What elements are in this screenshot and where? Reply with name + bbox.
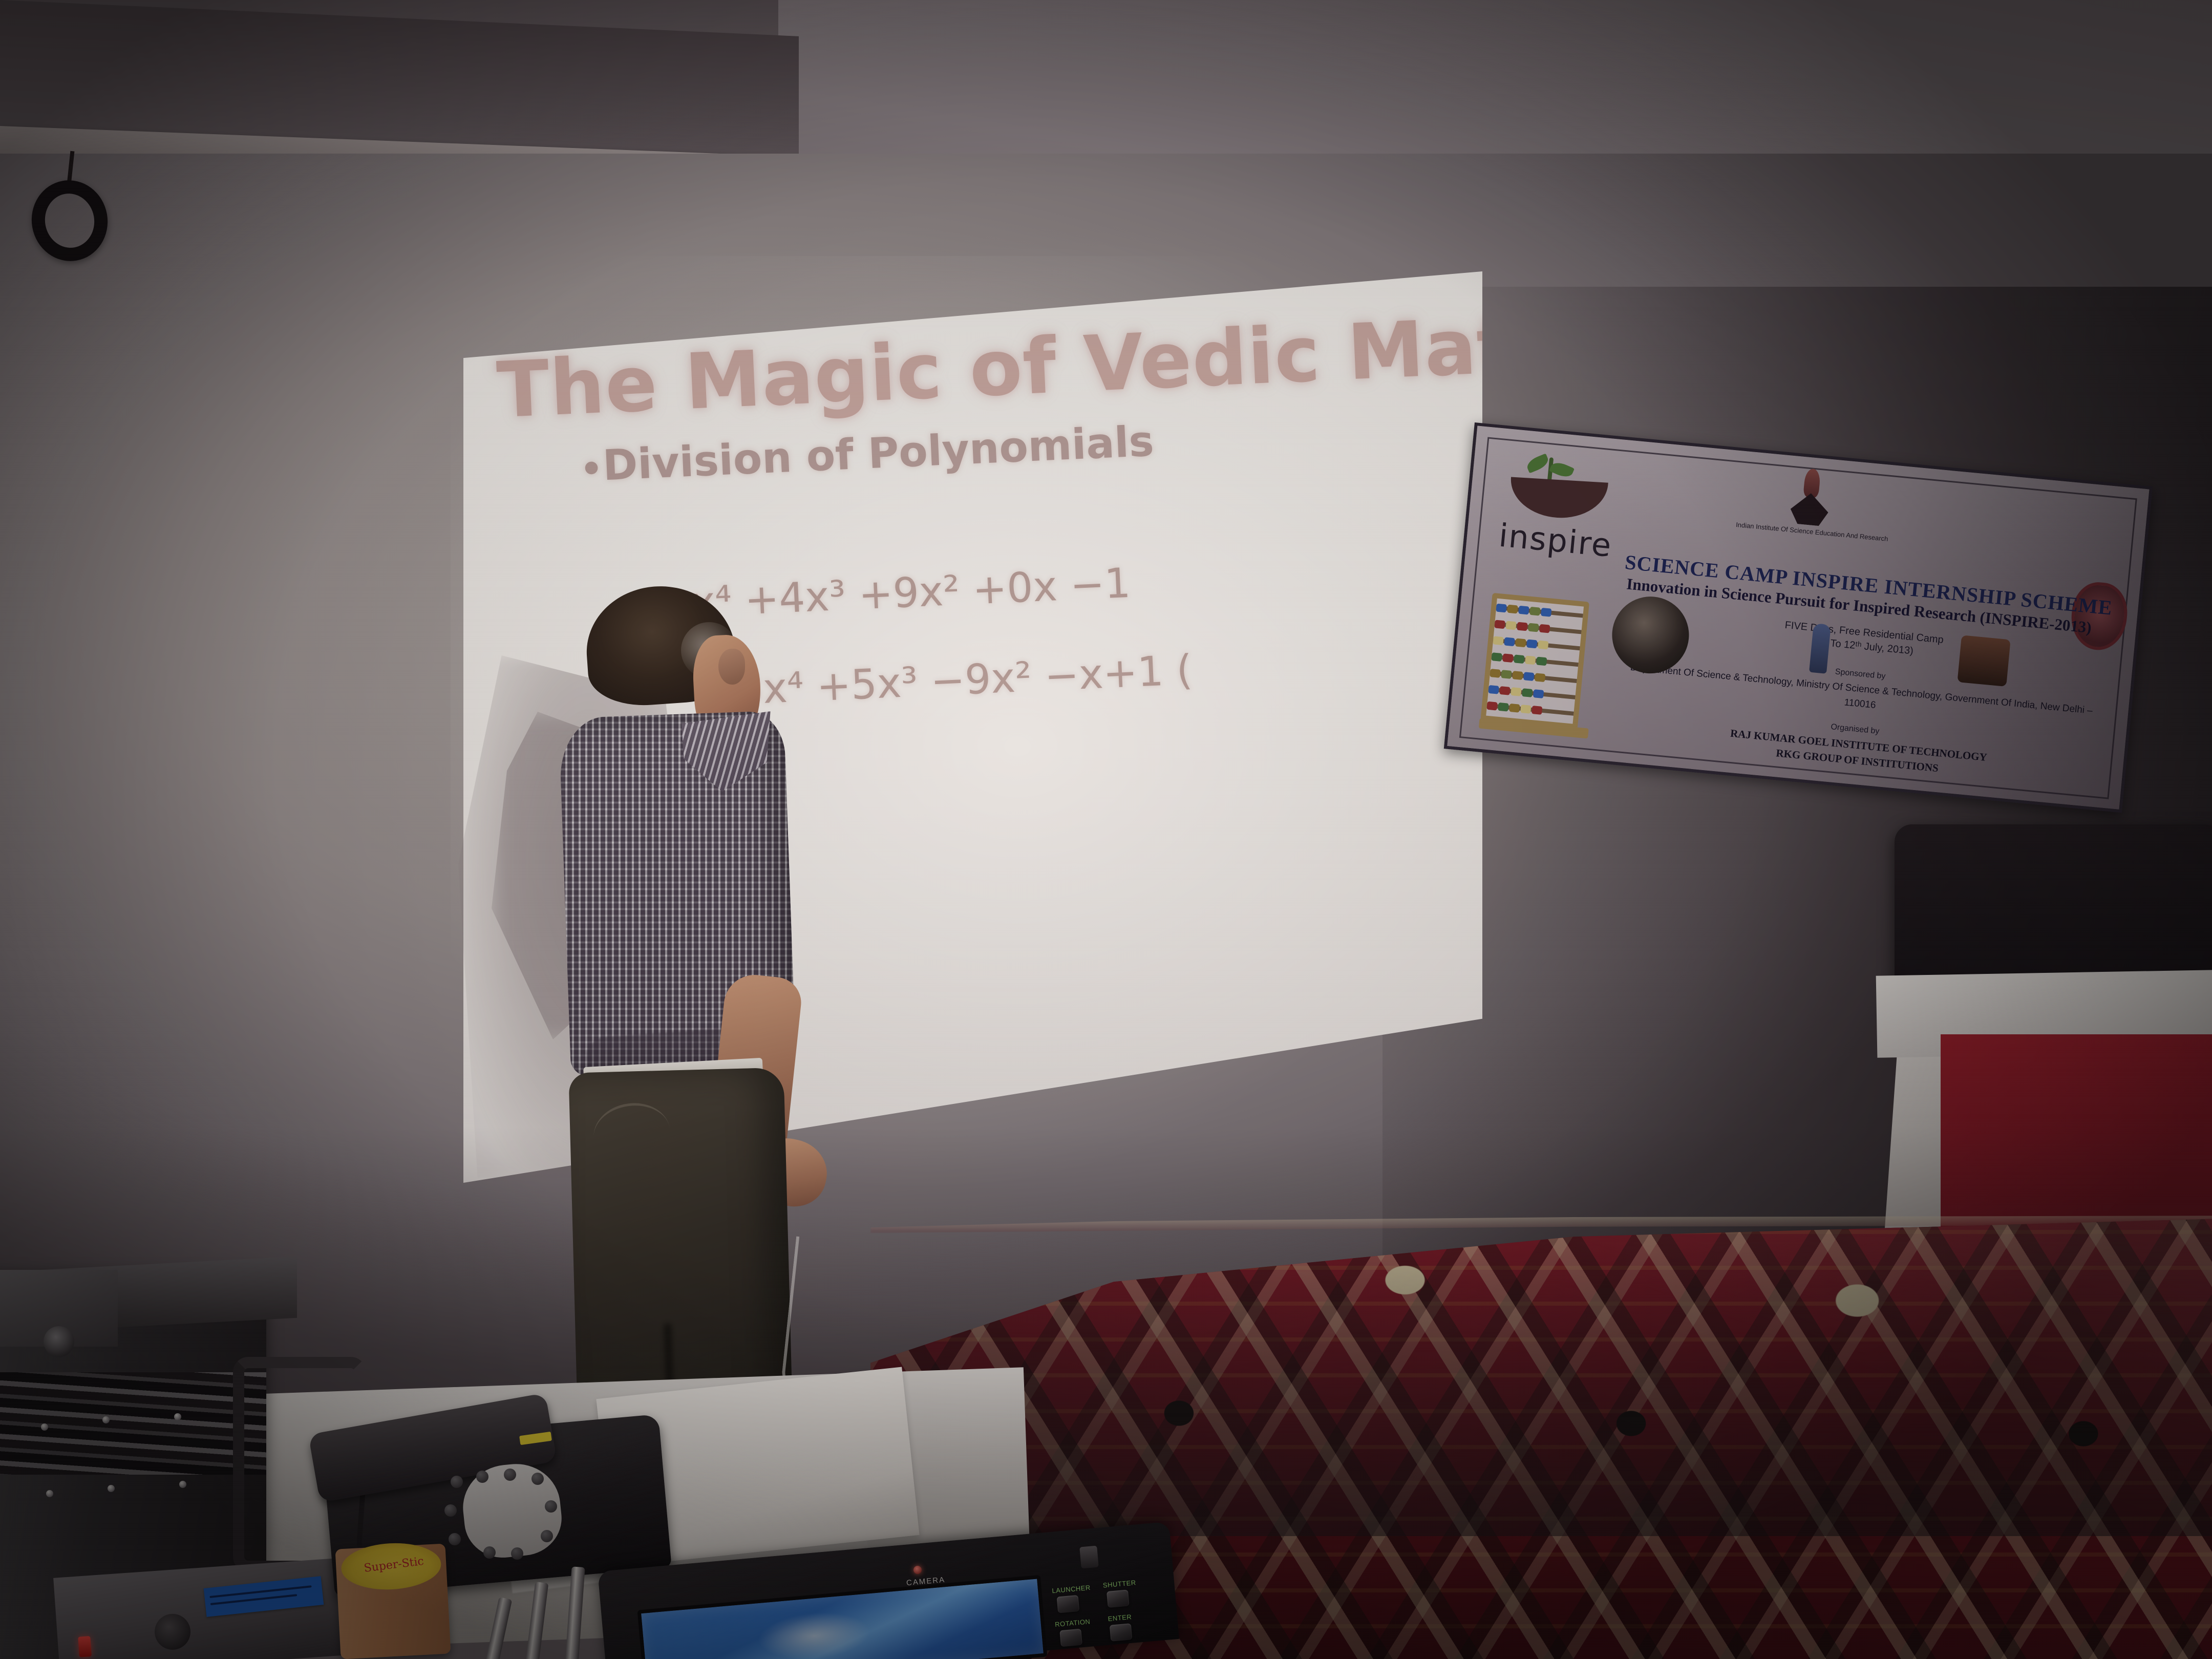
telephone-key[interactable]: [483, 1546, 496, 1559]
telephone-key[interactable]: [476, 1471, 488, 1483]
telephone-key[interactable]: [504, 1469, 516, 1481]
presenter-ear: [718, 649, 745, 685]
banner-figure-icon: [1957, 635, 2010, 687]
sprout-leaf-icon: [1525, 453, 1550, 473]
dark-sofa: [1895, 824, 2212, 993]
event-banner: inspire Indian Institute Of Science Educ…: [1444, 422, 2153, 813]
power-led-icon: [78, 1636, 92, 1657]
telephone-key[interactable]: [541, 1530, 553, 1542]
shutter-button[interactable]: [1107, 1589, 1130, 1608]
camera-led-icon: [913, 1566, 922, 1574]
national-emblem-icon: [1785, 467, 1835, 533]
emblem-base: [1789, 492, 1830, 527]
device-side-button[interactable]: [1079, 1546, 1099, 1569]
launcher-button[interactable]: [1057, 1595, 1080, 1613]
telephone-key[interactable]: [511, 1547, 523, 1560]
inspire-logo: inspire: [1496, 451, 1622, 559]
lab-equipment-screws: [20, 1413, 225, 1526]
slide-bullet-label: Division of Polynomials: [602, 417, 1155, 491]
device-button-pad: LAUNCHER SHUTTER ROTATION ENTER: [1052, 1578, 1165, 1659]
telephone-key[interactable]: [449, 1533, 461, 1545]
slide-bullet-item: •Division of Polynomials: [579, 417, 1155, 492]
telephone-key[interactable]: [451, 1476, 463, 1488]
telephone-key[interactable]: [545, 1500, 557, 1513]
presenter: [556, 586, 822, 1457]
enter-button[interactable]: [1110, 1623, 1133, 1642]
telephone-key[interactable]: [531, 1473, 544, 1485]
button-label-rotation: ROTATION: [1055, 1618, 1091, 1628]
lab-equipment-dial: [44, 1326, 74, 1357]
control-knob[interactable]: [154, 1613, 192, 1651]
cupped-hand-icon: [1509, 477, 1608, 520]
bullet-dot-icon: •: [579, 448, 604, 491]
tape-roll: Super-Stic: [335, 1544, 451, 1659]
button-label-enter: ENTER: [1108, 1613, 1132, 1623]
photo-scene: The Magic of Vedic Math •Division of Pol…: [0, 0, 2212, 1659]
rotation-button[interactable]: [1059, 1629, 1082, 1647]
telephone-key[interactable]: [444, 1504, 457, 1517]
emblem-top: [1803, 468, 1821, 498]
abacus-icon: [1480, 593, 1589, 730]
